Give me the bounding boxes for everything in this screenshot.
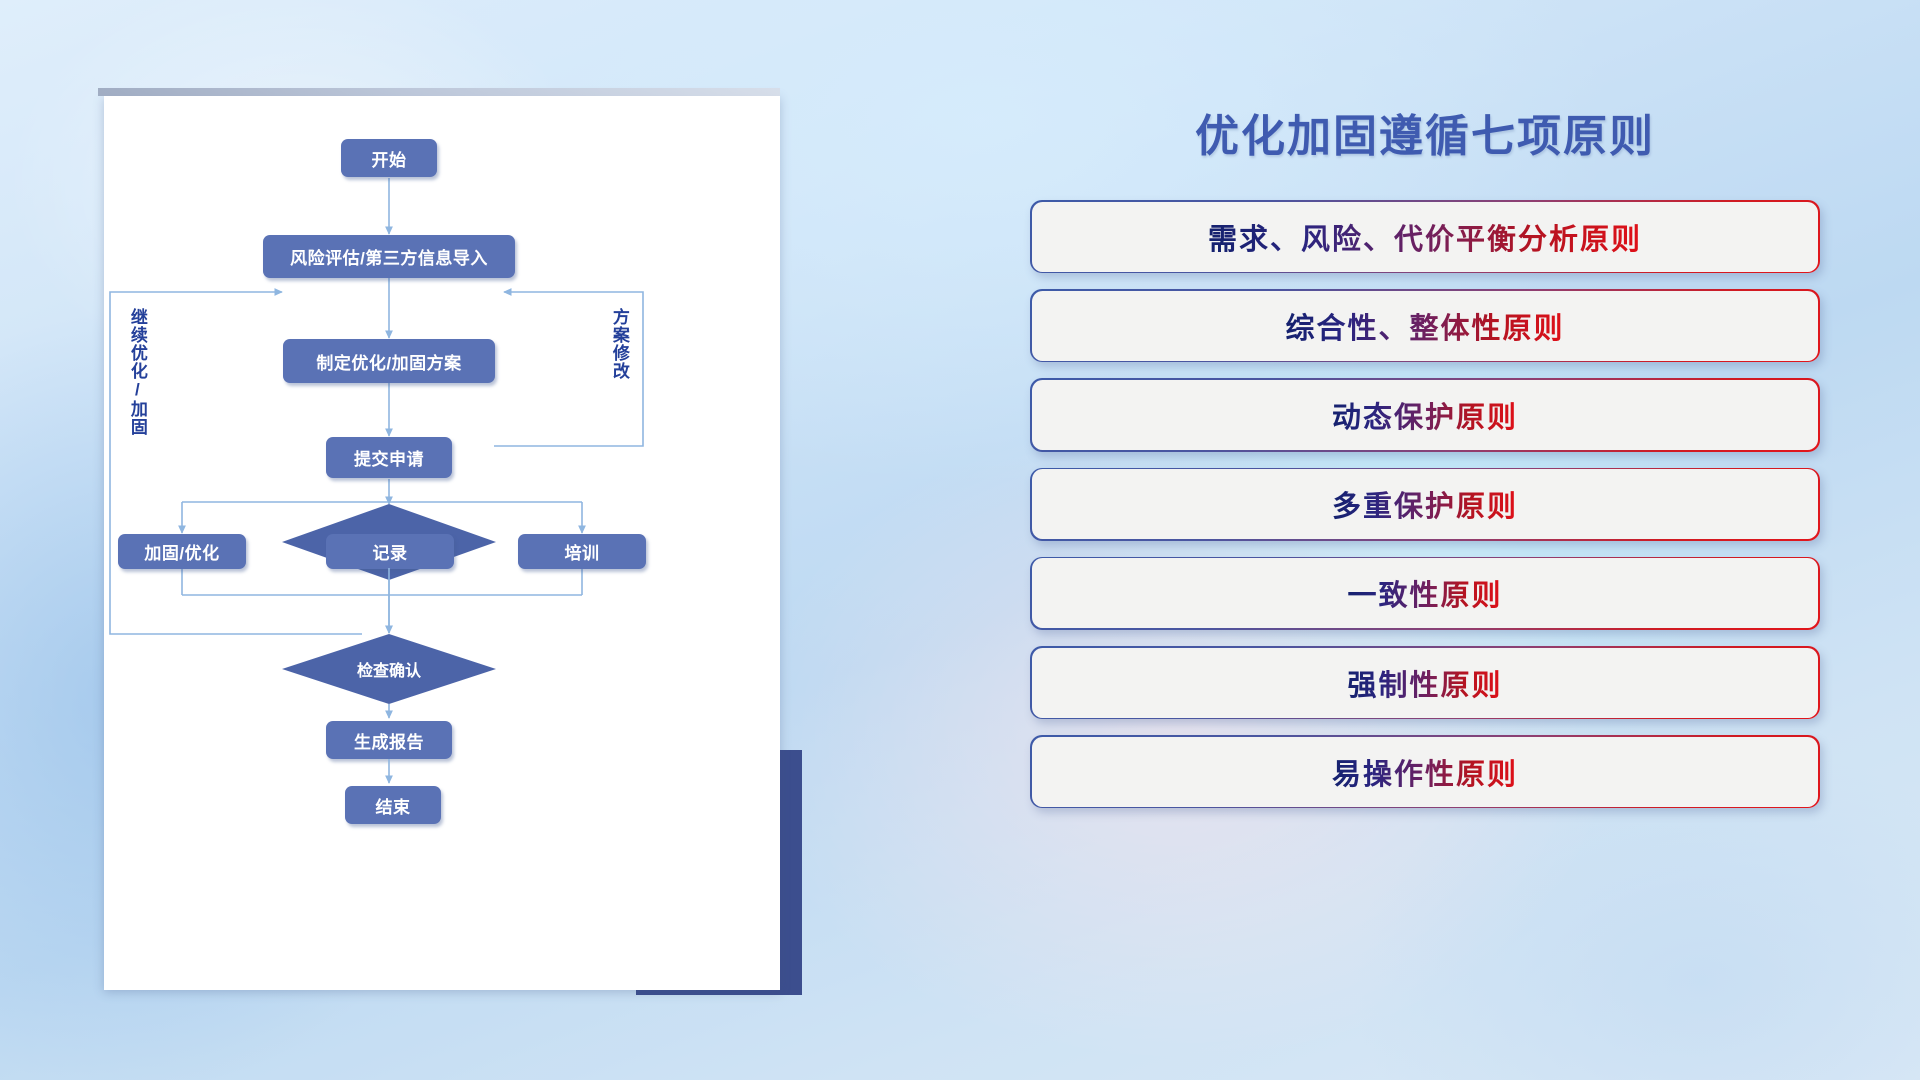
flow-edge-label-plan-revision-text: 方案修改 (610, 308, 629, 380)
principle-item-label: 易操作性原则 (1332, 751, 1518, 793)
principle-item-label: 动态保护原则 (1332, 394, 1518, 436)
principle-item[interactable]: 易操作性原则 (1030, 735, 1819, 808)
principle-item-inner: 一致性原则 (1032, 558, 1818, 628)
flow-node-risk-assessment-label: 风险评估/第三方信息导入 (290, 244, 488, 269)
flow-node-record-label: 记录 (373, 539, 408, 564)
flow-node-make-plan-label: 制定优化/加固方案 (316, 349, 461, 374)
flow-node-generate-report[interactable]: 生成报告 (326, 721, 452, 759)
slide-canvas: 开始 风险评估/第三方信息导入 制定优化/加固方案 提交申请 业主方确认 加固/… (0, 0, 1920, 1080)
flow-node-record[interactable]: 记录 (326, 534, 454, 569)
principle-item-inner: 易操作性原则 (1032, 737, 1818, 807)
flow-node-check-confirm[interactable]: 检查确认 (282, 634, 496, 704)
flow-node-training-label: 培训 (565, 539, 600, 564)
principle-item-inner: 多重保护原则 (1032, 469, 1818, 539)
principle-item[interactable]: 动态保护原则 (1030, 378, 1819, 451)
panel-title: 优化加固遵循七项原则 (1020, 100, 1830, 164)
flow-node-end-label: 结束 (376, 793, 411, 818)
flow-edge-label-plan-revision: 方案修改 (610, 308, 628, 380)
principle-item-label: 多重保护原则 (1332, 483, 1518, 525)
principle-item[interactable]: 强制性原则 (1030, 646, 1819, 719)
flow-edge-label-continue-optimize: 继续优化/加固 (128, 308, 146, 436)
flow-node-generate-report-label: 生成报告 (354, 728, 424, 753)
flow-node-submit-application[interactable]: 提交申请 (326, 437, 452, 478)
principle-item-inner: 综合性、整体性原则 (1032, 291, 1818, 361)
flow-node-training[interactable]: 培训 (518, 534, 646, 569)
flow-node-start-label: 开始 (372, 146, 407, 171)
flow-node-reinforce-optimize[interactable]: 加固/优化 (118, 534, 246, 569)
principle-item[interactable]: 综合性、整体性原则 (1030, 289, 1819, 362)
principles-panel: 优化加固遵循七项原则 需求、风险、代价平衡分析原则 综合性、整体性原则 动态保护… (1020, 100, 1830, 1000)
flow-node-make-plan[interactable]: 制定优化/加固方案 (283, 339, 495, 383)
flowchart-card: 开始 风险评估/第三方信息导入 制定优化/加固方案 提交申请 业主方确认 加固/… (104, 96, 780, 990)
principle-item-label: 强制性原则 (1347, 662, 1502, 704)
principle-item-inner: 强制性原则 (1032, 648, 1818, 718)
flow-node-reinforce-optimize-label: 加固/优化 (144, 539, 219, 564)
flow-node-start[interactable]: 开始 (341, 139, 437, 177)
flow-node-end[interactable]: 结束 (345, 786, 441, 824)
principle-item[interactable]: 需求、风险、代价平衡分析原则 (1030, 200, 1819, 273)
flow-node-risk-assessment[interactable]: 风险评估/第三方信息导入 (263, 235, 515, 278)
principle-item[interactable]: 一致性原则 (1030, 557, 1819, 630)
flow-node-submit-application-label: 提交申请 (354, 445, 424, 470)
principle-item-inner: 动态保护原则 (1032, 380, 1818, 450)
principle-item-label: 需求、风险、代价平衡分析原则 (1208, 216, 1642, 258)
principle-item-label: 综合性、整体性原则 (1285, 305, 1564, 347)
flow-edge-label-continue-optimize-text: 继续优化/加固 (128, 308, 147, 436)
principle-item-label: 一致性原则 (1347, 572, 1502, 614)
principle-item[interactable]: 多重保护原则 (1030, 468, 1819, 541)
flow-node-check-confirm-label: 检查确认 (357, 657, 421, 681)
principle-item-inner: 需求、风险、代价平衡分析原则 (1032, 202, 1818, 272)
